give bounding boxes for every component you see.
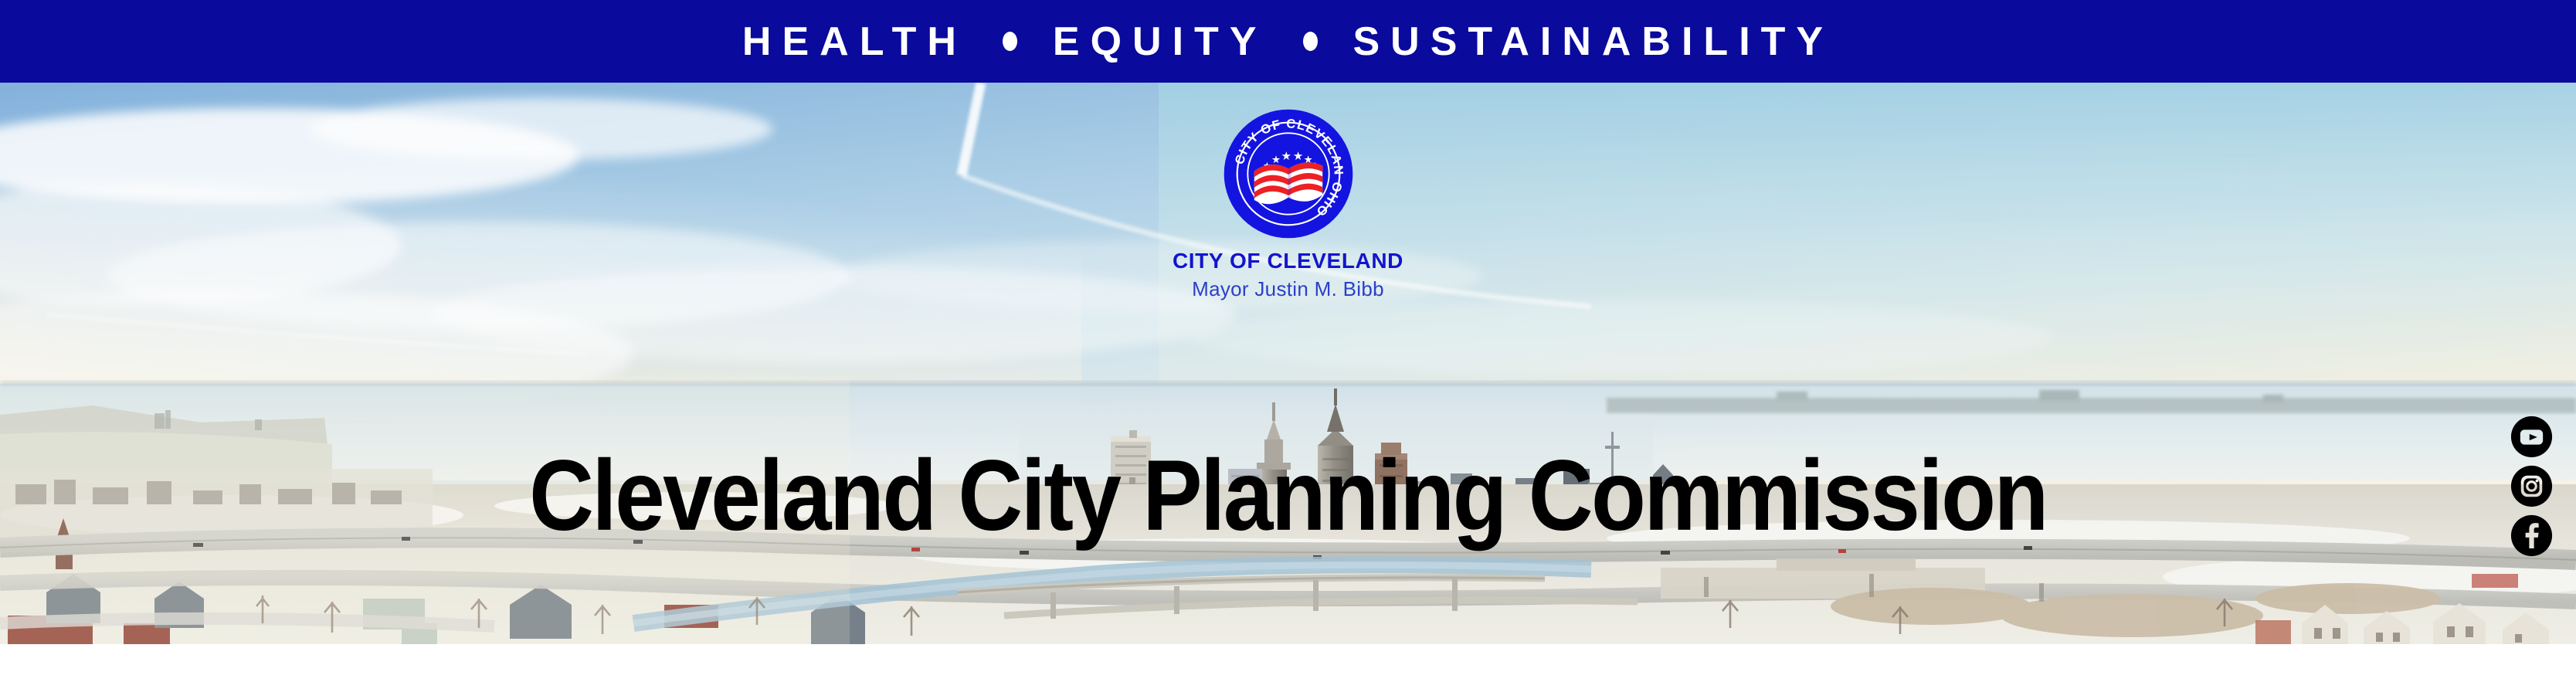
instagram-icon [2510,465,2553,507]
bullet-dot-icon [1003,32,1017,51]
banner-word-equity: EQUITY [1053,22,1268,62]
social-links [2510,416,2553,557]
banner-word-sustainability: SUSTAINABILITY [1353,22,1834,62]
social-link-facebook[interactable] [2510,514,2553,557]
hero-photo [0,83,2576,644]
social-link-instagram[interactable] [2510,465,2553,507]
youtube-icon [2510,416,2553,458]
values-banner: HEALTH EQUITY SUSTAINABILITY [0,0,2576,83]
bullet-dot-icon [1303,32,1318,51]
values-banner-inner: HEALTH EQUITY SUSTAINABILITY [742,22,1834,62]
page-root: HEALTH EQUITY SUSTAINABILITY [0,0,2576,682]
banner-word-health: HEALTH [742,22,967,62]
social-link-youtube[interactable] [2510,416,2553,458]
facebook-icon [2510,514,2553,557]
